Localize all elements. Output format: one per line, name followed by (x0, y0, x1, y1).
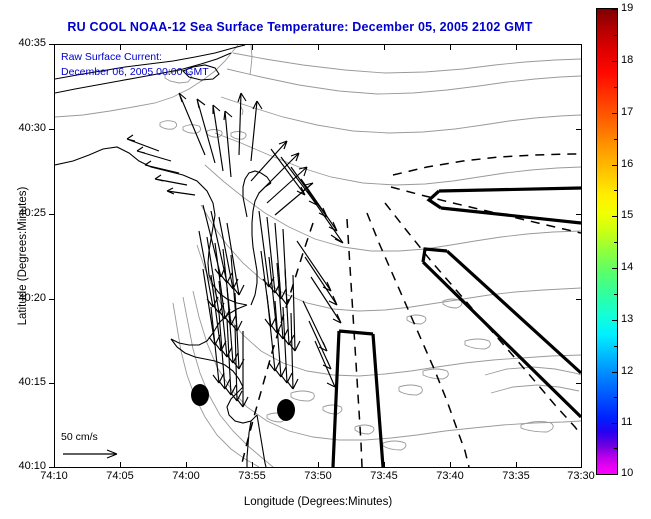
current-annotation-line1: Raw Surface Current: (61, 50, 209, 65)
colorbar-tick-label: 14 (621, 261, 633, 273)
coastline (55, 45, 271, 467)
colorbar-tick (612, 320, 618, 321)
x-tick-label: 74:05 (90, 470, 150, 482)
x-tick-label: 73:35 (486, 470, 546, 482)
x-tick (252, 462, 253, 468)
colorbar-tick-label: 17 (621, 106, 633, 118)
colorbar-minor-tick (614, 448, 618, 449)
x-tick (384, 462, 385, 468)
x-tick (581, 462, 582, 468)
colorbar-minor-tick (614, 87, 618, 88)
y-tick (49, 299, 55, 300)
colorbar-tick (612, 474, 618, 475)
x-tick-label: 73:45 (354, 470, 414, 482)
y-tick-right (576, 129, 582, 130)
colorbar-minor-tick (614, 397, 618, 398)
y-tick-label: 40:35 (0, 37, 46, 49)
map-plot-area: Raw Surface Current: December 06, 2005 0… (54, 44, 582, 468)
x-axis-title: Longitude (Degrees:Minutes) (54, 496, 582, 508)
colorbar-minor-tick (614, 346, 618, 347)
colorbar-tick-label: 16 (621, 158, 633, 170)
x-tick (516, 462, 517, 468)
x-tick-top (450, 44, 451, 50)
colorbar-minor-tick (614, 139, 618, 140)
colorbar-minor-tick (614, 190, 618, 191)
x-tick (318, 462, 319, 468)
figure-title: RU COOL NOAA-12 Sea Surface Temperature:… (0, 20, 600, 34)
current-annotation: Raw Surface Current: December 06, 2005 0… (61, 50, 209, 80)
vector-scale-bar: 50 cm/s (61, 431, 125, 462)
colorbar-tick (612, 113, 618, 114)
colorbar-tick (612, 372, 618, 373)
x-tick-label: 73:40 (420, 470, 480, 482)
y-tick (49, 129, 55, 130)
colorbar-tick-label: 12 (621, 365, 633, 377)
y-tick-label: 40:10 (0, 460, 46, 472)
scale-bar-arrow-icon (61, 446, 125, 462)
y-tick-label: 40:30 (0, 122, 46, 134)
y-tick (49, 383, 55, 384)
y-tick (49, 467, 55, 468)
colorbar-tick-label: 18 (621, 54, 633, 66)
y-tick-right (576, 214, 582, 215)
colorbar-tick (612, 268, 618, 269)
x-tick (186, 462, 187, 468)
map-graphics (55, 45, 581, 467)
station-marker (277, 399, 295, 421)
surface-current-vectors (127, 93, 343, 407)
y-tick-label: 40:15 (0, 376, 46, 388)
x-tick-top (516, 44, 517, 50)
x-tick (120, 462, 121, 468)
colorbar-tick-label: 11 (621, 416, 632, 428)
y-axis-title: Latitude (Degrees:Minutes) (17, 156, 29, 356)
y-tick (49, 214, 55, 215)
colorbar-tick-label: 19 (621, 2, 633, 14)
x-tick-top (186, 44, 187, 50)
colorbar-minor-tick (614, 294, 618, 295)
colorbar-tick (612, 61, 618, 62)
colorbar-tick-label: 13 (621, 313, 633, 325)
scale-bar-label: 50 cm/s (61, 431, 125, 443)
x-tick-top (120, 44, 121, 50)
x-tick-label: 73:55 (222, 470, 282, 482)
x-tick-top (318, 44, 319, 50)
y-tick (49, 44, 55, 45)
colorbar-minor-tick (614, 35, 618, 36)
colorbar-tick-label: 15 (621, 209, 633, 221)
x-tick-label: 73:50 (288, 470, 348, 482)
colorbar-tick (612, 423, 618, 424)
sst-contour-lines (55, 45, 581, 467)
current-annotation-line2: December 06, 2005 00:00 GMT (61, 65, 209, 80)
x-tick (450, 462, 451, 468)
figure-canvas: RU COOL NOAA-12 Sea Surface Temperature:… (0, 0, 651, 519)
x-tick-label: 74:00 (156, 470, 216, 482)
colorbar-tick (612, 9, 618, 10)
colorbar-tick (612, 165, 618, 166)
y-tick-right (576, 383, 582, 384)
colorbar-tick-label: 10 (621, 467, 633, 479)
shipping-lane-corridors (333, 188, 581, 467)
colorbar-minor-tick (614, 242, 618, 243)
x-tick-top (384, 44, 385, 50)
y-tick-right (576, 299, 582, 300)
station-marker (191, 384, 209, 406)
colorbar-tick (612, 216, 618, 217)
x-tick-top (252, 44, 253, 50)
